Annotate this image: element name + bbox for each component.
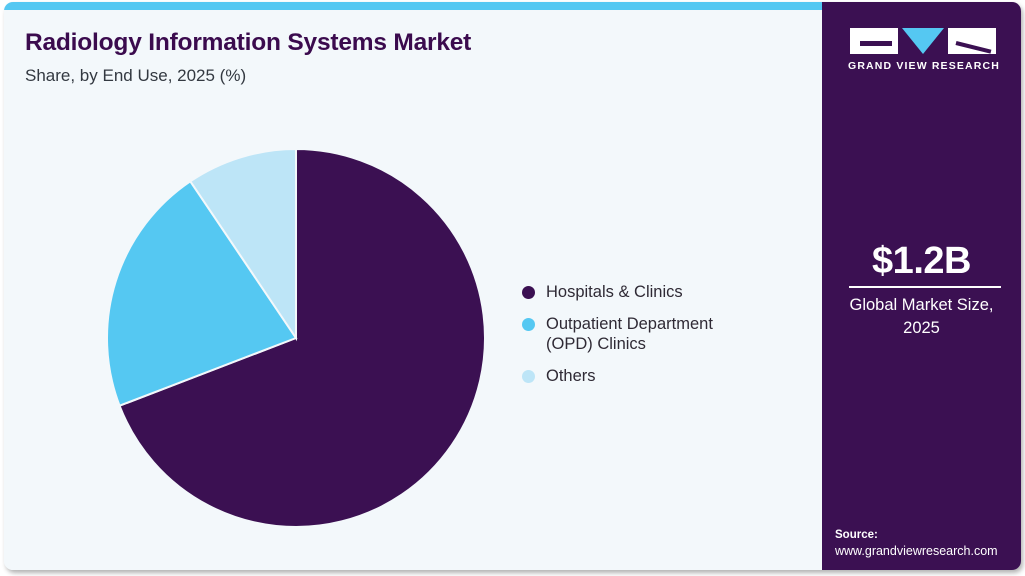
source-label: Source: xyxy=(835,527,1021,543)
market-size-value: $1.2B xyxy=(822,240,1021,283)
market-size-label: Global Market Size, 2025 xyxy=(840,294,1003,340)
legend-item[interactable]: Hospitals & Clinics xyxy=(522,282,762,303)
legend-color-swatch-icon xyxy=(522,318,535,331)
legend-item[interactable]: Outpatient Department (OPD) Clinics xyxy=(522,314,762,355)
page-subtitle: Share, by End Use, 2025 (%) xyxy=(25,66,246,86)
logo-v-triangle xyxy=(902,28,944,54)
logo-g-notch xyxy=(860,41,892,46)
side-panel: GRAND VIEW RESEARCH $1.2B Global Market … xyxy=(822,2,1021,570)
source-url[interactable]: www.grandviewresearch.com xyxy=(835,543,1021,560)
pie-chart-svg xyxy=(103,144,493,534)
top-accent-bar xyxy=(4,2,822,10)
source-block: Source: www.grandviewresearch.com xyxy=(835,527,1021,560)
legend-item-label: Outpatient Department (OPD) Clinics xyxy=(546,314,762,355)
legend-color-swatch-icon xyxy=(522,370,535,383)
stat-divider xyxy=(849,286,1001,288)
page-title: Radiology Information Systems Market xyxy=(25,29,471,57)
chart-card: Radiology Information Systems Market Sha… xyxy=(4,2,1021,570)
gvr-logo-icon xyxy=(850,28,996,54)
legend-item-label: Hospitals & Clinics xyxy=(546,282,683,303)
main-panel: Radiology Information Systems Market Sha… xyxy=(4,10,822,570)
legend-item[interactable]: Others xyxy=(522,366,762,387)
legend-color-swatch-icon xyxy=(522,286,535,299)
chart-legend: Hospitals & ClinicsOutpatient Department… xyxy=(522,282,762,397)
brand-name: GRAND VIEW RESEARCH xyxy=(848,60,998,72)
pie-chart xyxy=(103,144,493,534)
legend-item-label: Others xyxy=(546,366,596,387)
